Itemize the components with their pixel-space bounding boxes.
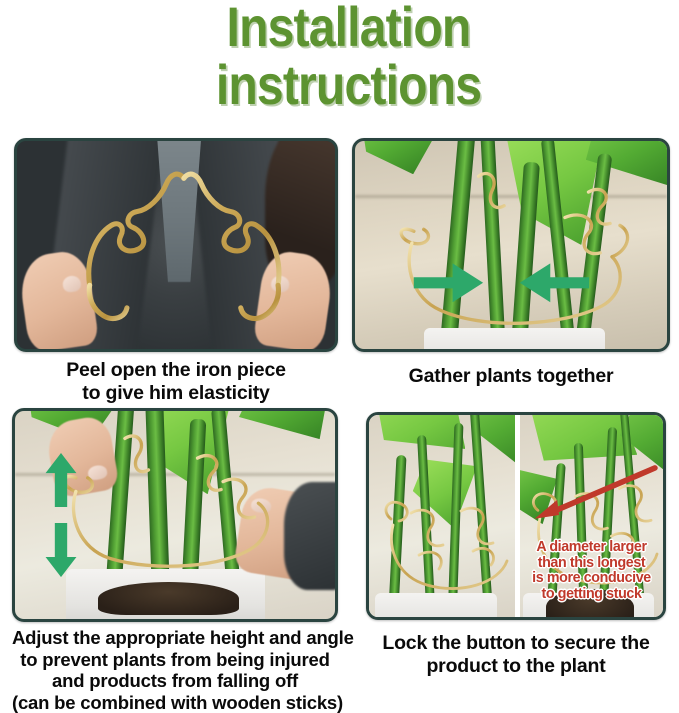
step-3-panel: Adjust the appropriate height and angle … (12, 408, 338, 713)
gold-wire-clip-icon (355, 141, 667, 351)
warning-line-1: A diameter larger (524, 539, 660, 555)
warning-line-2: than this longest (524, 555, 660, 571)
arrow-up-green-icon (37, 453, 85, 507)
step-2-photo (352, 138, 670, 352)
step-1-caption-line-2: to give him elasticity (14, 382, 338, 405)
gold-wire-clip-icon (369, 415, 515, 617)
warning-line-4: to getting stuck (524, 586, 660, 602)
step-4-photo-right: A diameter larger than this longest is m… (520, 415, 663, 617)
page-title: Installation instructions (0, 0, 679, 114)
gold-plant-clip-icon (17, 141, 335, 351)
diameter-warning-text: A diameter larger than this longest is m… (524, 539, 660, 601)
step-3-caption: Adjust the appropriate height and angle … (12, 627, 338, 713)
page-title-line-1: Installation (64, 0, 632, 56)
step-2-caption-line-1: Gather plants together (352, 365, 670, 388)
step-3-caption-line-2: to prevent plants from being injured (12, 649, 338, 671)
step-4-caption-line-2: product to the plant (366, 655, 666, 678)
coat-background (17, 141, 335, 349)
step-1-caption-line-1: Peel open the iron piece (14, 359, 338, 382)
step-4-panel: A diameter larger than this longest is m… (366, 412, 666, 678)
arrow-left-green-icon (517, 262, 592, 304)
arrow-pointer-red-icon (529, 459, 661, 528)
patio-background (355, 141, 667, 349)
step-4-caption: Lock the button to secure the product to… (366, 632, 666, 678)
left-scene (369, 415, 515, 617)
step-2-caption: Gather plants together (352, 365, 670, 388)
patio-background (15, 411, 335, 619)
step-1-photo (14, 138, 338, 352)
step-3-photo (12, 408, 338, 622)
step-4-photo: A diameter larger than this longest is m… (366, 412, 666, 620)
arrow-down-green-icon (37, 523, 85, 577)
warning-line-3: is more conducive (524, 570, 660, 586)
step-3-caption-line-4: (can be combined with wooden sticks) (12, 692, 338, 713)
step-3-caption-line-3: and products from falling off (12, 670, 338, 692)
gold-wire-clip-icon (15, 411, 335, 621)
step-3-caption-line-1: Adjust the appropriate height and angle (12, 627, 338, 649)
step-1-caption: Peel open the iron piece to give him ela… (14, 359, 338, 405)
step-4-caption-line-1: Lock the button to secure the (366, 632, 666, 655)
arrow-right-green-icon (411, 262, 486, 304)
page-title-line-2: instructions (64, 56, 632, 114)
step-4-photo-left (369, 415, 515, 617)
step-2-panel: Gather plants together (352, 138, 670, 388)
step-1-panel: Peel open the iron piece to give him ela… (14, 138, 338, 405)
